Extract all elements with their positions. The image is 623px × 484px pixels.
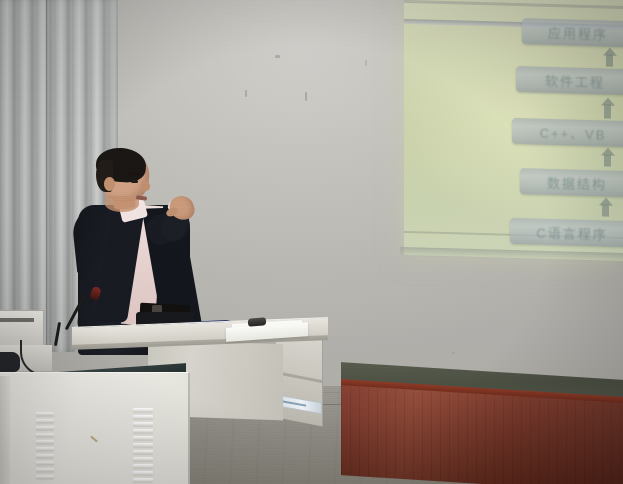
av-equipment-slot (0, 318, 34, 322)
wall-speck (305, 92, 307, 101)
wall-speck (245, 90, 247, 97)
presenter-remote (248, 317, 266, 327)
slide-box: 应用程序 (522, 18, 623, 47)
slide-box-label: C语言程序 (536, 222, 607, 243)
slide-arrow-shaft (604, 104, 611, 118)
cabinet-left-edge (0, 376, 10, 484)
slide-arrow-head (601, 147, 615, 155)
slide-box: 数据结构 (520, 168, 623, 197)
white-metal-cabinet (0, 372, 190, 484)
wall-speck (275, 55, 280, 58)
slide-arrow-head (601, 97, 615, 105)
slide-box-label: 软件工程 (545, 70, 605, 91)
presenter-ear (104, 177, 115, 191)
presenter-eyebrow (129, 173, 139, 177)
wooden-desk-shading (341, 385, 623, 484)
presentation-photo-scene: 应用程序 软件工程 C++、VB 数据结构 C语言程序 (0, 0, 623, 484)
slide-arrow-shaft (602, 204, 609, 216)
slide-box: 软件工程 (516, 66, 623, 95)
slide-arrow-head (603, 47, 617, 55)
slide-arrow-shaft (606, 55, 613, 67)
curtain-seam (47, 0, 48, 352)
slide-box-label: 应用程序 (548, 22, 608, 43)
wall-speck (452, 352, 455, 354)
slide-box-label: 数据结构 (547, 172, 607, 193)
presenter-eye (131, 180, 138, 183)
wall-speck (365, 60, 367, 66)
presenter-nose (141, 181, 150, 191)
cabinet-vent-right (133, 408, 153, 482)
slide-box-label: C++、VB (540, 122, 607, 143)
slide-box: C++、VB (512, 118, 623, 147)
cabinet-vent-left (36, 412, 54, 479)
slide-box: C语言程序 (510, 218, 623, 247)
av-equipment-dark-module (0, 352, 20, 372)
slide-arrow-head (599, 197, 613, 205)
projection-screen: 应用程序 软件工程 C++、VB 数据结构 C语言程序 (404, 0, 623, 261)
slide-arrow-shaft (604, 154, 611, 166)
presenter-jaw (105, 196, 139, 212)
